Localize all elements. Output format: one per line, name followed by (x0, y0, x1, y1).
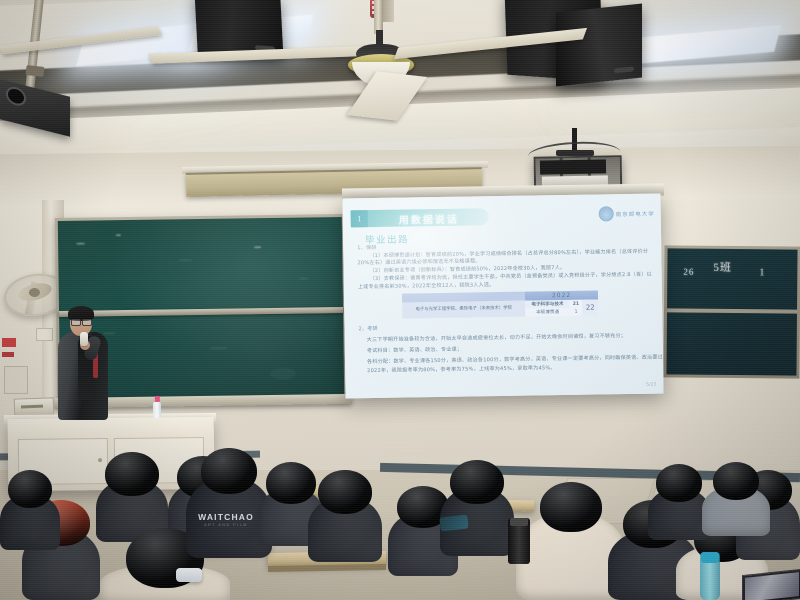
slide-line-8: 考试科目：数学、英语、政治、专业课； (367, 347, 462, 355)
black-thermos[interactable] (508, 518, 530, 564)
slide-title: 用数据说话 (399, 211, 459, 227)
blackboard-right-divider (667, 309, 797, 314)
student-left-1 (0, 470, 60, 550)
projection-screen: 1 用数据说话 毕业出路 南京邮电大学 1、保研 （1）本硕博贯通计划：智育成绩… (342, 194, 663, 399)
presenter-glasses-icon (71, 319, 91, 324)
chalk-text-right: 1 (759, 267, 765, 278)
slide-line-6: 2、考研 (358, 326, 377, 333)
blue-water-bottle[interactable] (700, 552, 720, 600)
slide-line-7: 大三下学期开始准备较为合适，开始太早会造成疲倦拉太长，动力不足，开始太晚会时间诸… (367, 333, 626, 344)
wall-power-outlet[interactable] (36, 328, 53, 341)
tissue-pack[interactable] (176, 568, 202, 582)
student-right-1 (440, 460, 514, 556)
student-mid-2 (308, 470, 382, 562)
table-row-label: 电子与光学工程学院、柔性电子（未来技术）学院 (402, 301, 525, 319)
student-head (8, 470, 52, 508)
slide-line-9: 各科分配：数学、专业课各150分，英语、政治各100分，数学考高分，英语、专业课… (367, 354, 664, 366)
chalk-text-mid: 5班 (713, 259, 732, 275)
slide-subtitle: 毕业出路 (365, 231, 409, 246)
blackboard-divider (59, 307, 343, 317)
university-name: 南京邮电大学 (616, 209, 655, 218)
projector-top-shadow (540, 159, 606, 174)
wall-fan-hub (29, 288, 40, 297)
table-cell-major-1: 本硕博贯通 (525, 308, 569, 317)
blackboard-right-surface: 26 5班 1 (666, 248, 797, 375)
ceiling-speaker-right (556, 3, 642, 86)
student-glasses (648, 464, 710, 540)
slide-line-5: 上或专业排名前30%，2022年全校12人，我院3人入选。 (358, 282, 495, 291)
slide-line-10: 2022年，我院报考率为80%，参考率为75%，上线率为45%，录取率为45%。 (367, 365, 556, 375)
slide-line-1: （1）本硕博贯通计划：智育成绩前20%，学业学习成绩综合排名（占总评总分80%左… (369, 249, 648, 260)
pipe-clamp (26, 65, 45, 77)
red-wall-sign (2, 338, 16, 347)
slide-data-table: 2022 电子与光学工程学院、柔性电子（未来技术）学院 电子科学与技术 21 2… (402, 291, 598, 319)
student-head (450, 460, 504, 504)
slide-line-0: 1、保研 (357, 245, 376, 252)
red-wall-sign-secondary (2, 352, 14, 357)
teal-pouch[interactable] (439, 515, 468, 532)
slide-page-number: 5/23 (646, 383, 656, 388)
slide-content: 1 用数据说话 毕业出路 南京邮电大学 1、保研 （1）本硕博贯通计划：智育成绩… (342, 194, 663, 399)
bottle-cap-icon (154, 396, 159, 402)
microphone[interactable] (80, 332, 88, 346)
bottle-cap-icon (701, 552, 719, 563)
student-head (201, 448, 257, 494)
lecture-hall-photo: 26 5班 1 1 用数据说话 毕业出路 南京邮电大学 1、保研 （1）本硕博贯… (0, 0, 800, 600)
chalk-text-left: 26 (683, 267, 694, 277)
projector-lens-icon (6, 85, 26, 108)
table-cell-total: 22 (582, 300, 598, 316)
student-head (713, 462, 759, 500)
student-head (105, 452, 159, 496)
table-cell-value-1: 1 (570, 308, 583, 316)
slide-section-number: 1 (351, 210, 368, 227)
university-logo: 南京邮电大学 (599, 206, 655, 222)
fan-downrod (374, 0, 383, 34)
student-head (656, 464, 702, 502)
university-emblem-icon (599, 206, 614, 221)
table-cell-value-0: 21 (569, 300, 582, 308)
blackboard-right: 26 5班 1 (663, 245, 800, 378)
podium-water-bottle[interactable] (153, 396, 161, 418)
laptop-screen[interactable] (742, 569, 800, 600)
student-head (318, 470, 372, 514)
student-gray-vest (702, 462, 770, 536)
student-head (540, 482, 602, 532)
wall-control-box[interactable] (4, 366, 28, 394)
